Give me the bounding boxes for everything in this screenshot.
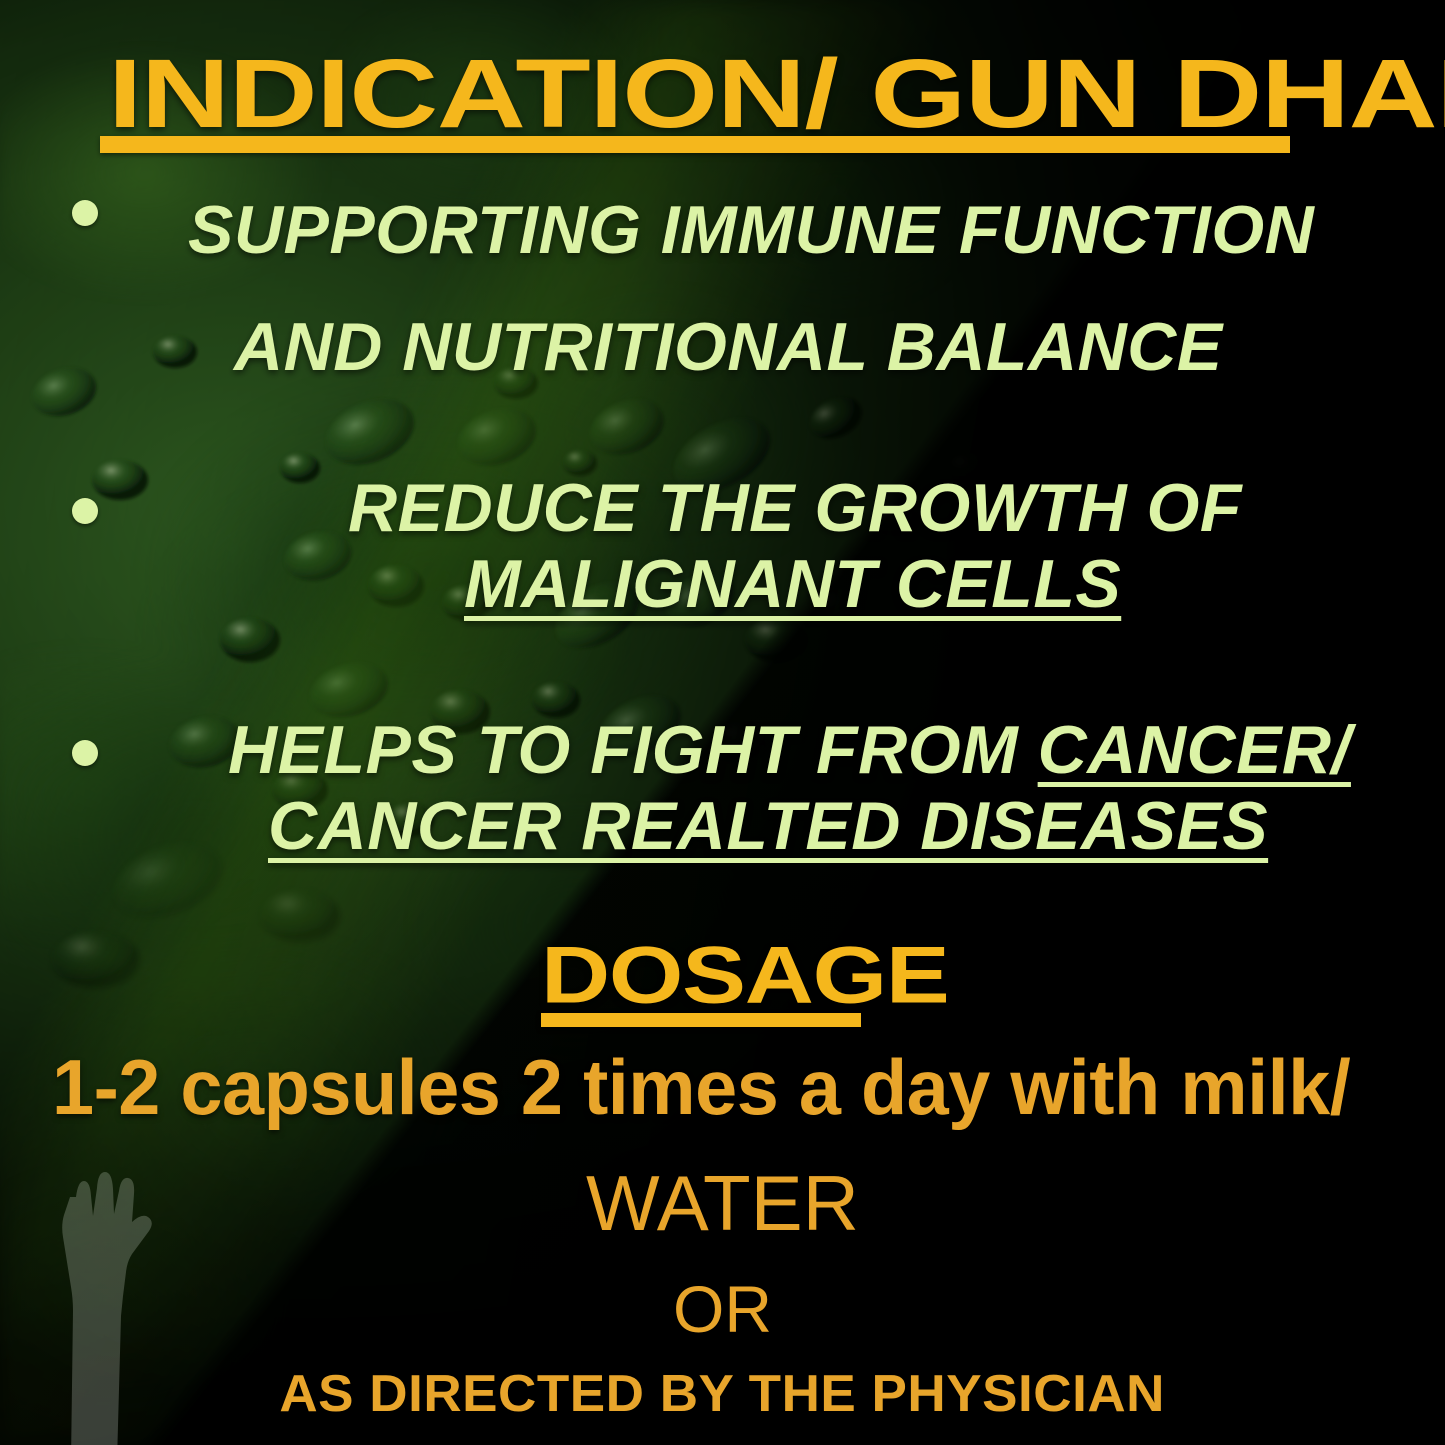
dosage-main-instruction: 1-2 capsules 2 times a day with milk/ <box>52 1048 1350 1126</box>
bullet-dot-icon <box>72 498 98 524</box>
indication-bullet-3-line-1-plain: HELPS TO FIGHT FROM <box>228 712 1038 788</box>
indication-bullet-2-line-2: MALIGNANT CELLS <box>348 546 1242 622</box>
indication-heading-underline <box>100 136 1290 153</box>
indication-bullet-2: REDUCE THE GROWTH OF MALIGNANT CELLS <box>72 470 1242 622</box>
indication-bullet-3: HELPS TO FIGHT FROM CANCER/ CANCER REALT… <box>72 712 1351 864</box>
indication-bullet-3-text: HELPS TO FIGHT FROM CANCER/ CANCER REALT… <box>228 712 1351 864</box>
bullet-dot-icon <box>72 200 98 226</box>
dosage-physician-note-text: AS DIRECTED BY THE PHYSICIAN <box>280 1368 1166 1420</box>
indication-bullet-3-line-2: CANCER REALTED DISEASES <box>228 788 1351 864</box>
indication-bullet-1: SUPPORTING IMMUNE FUNCTION AND NUTRITION… <box>72 172 1314 406</box>
indication-bullet-3-line-1-underlined: CANCER/ <box>1038 712 1351 788</box>
dosage-physician-note: AS DIRECTED BY THE PHYSICIAN <box>0 1368 1445 1420</box>
poster-content: INDICATION/ GUN DHARM- SUPPORTING IMMUNE… <box>0 0 1445 1445</box>
indication-bullet-1-line-2: AND NUTRITIONAL BALANCE <box>188 289 1314 406</box>
indication-bullet-1-line-1: SUPPORTING IMMUNE FUNCTION <box>188 172 1314 289</box>
indication-bullet-3-line-1: HELPS TO FIGHT FROM CANCER/ <box>228 712 1351 788</box>
indication-bullet-2-text: REDUCE THE GROWTH OF MALIGNANT CELLS <box>348 470 1242 622</box>
indication-heading: INDICATION/ GUN DHARM- <box>108 45 1445 143</box>
indication-bullet-2-line-1: REDUCE THE GROWTH OF <box>348 470 1242 546</box>
poster-canvas: INDICATION/ GUN DHARM- SUPPORTING IMMUNE… <box>0 0 1445 1445</box>
bullet-dot-icon <box>72 740 98 766</box>
dosage-heading-underline <box>541 1013 861 1027</box>
dosage-water-label: WATER <box>0 1164 1445 1242</box>
indication-bullet-1-text: SUPPORTING IMMUNE FUNCTION AND NUTRITION… <box>188 172 1314 406</box>
dosage-or-label: OR <box>0 1276 1445 1342</box>
dosage-heading: DOSAGE <box>541 936 948 1017</box>
